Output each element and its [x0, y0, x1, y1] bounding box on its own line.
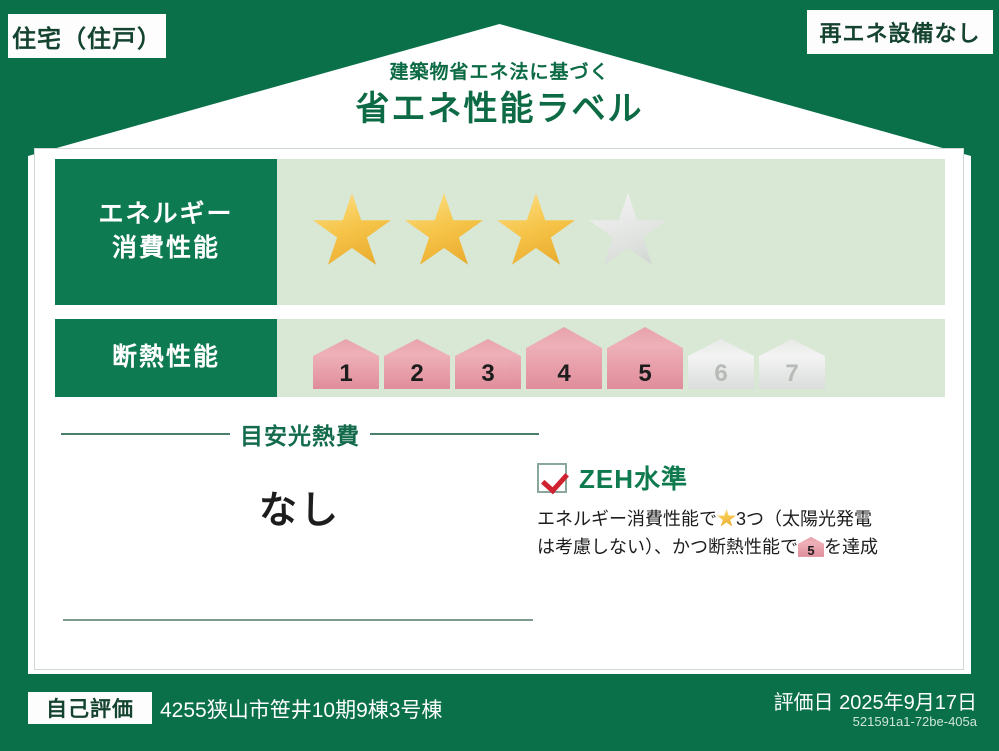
label-title-block: 建築物省エネ法に基づく 省エネ性能ラベル [0, 62, 999, 130]
grade-house-icon-4: 4 [526, 327, 602, 389]
grade-house-value-7: 7 [785, 362, 798, 389]
energy-label-line2: 消費性能 [112, 232, 220, 266]
property-address: 4255狭山市笹井10期9棟3号棟 [160, 694, 442, 724]
utility-cost-heading-text: 目安光熱費 [230, 417, 370, 451]
check-icon [537, 463, 567, 493]
grade-house-icon-5: 5 [607, 327, 683, 389]
grade-house-value-4: 4 [557, 362, 570, 389]
zeh-desc-star-count: 3つ（太陽光発電 [736, 509, 872, 529]
zeh-desc-part2: は考慮しない）、かつ断熱性能で [537, 537, 798, 557]
evaluation-date-label: 評価日 [774, 692, 834, 714]
title-subtitle: 建築物省エネ法に基づく [0, 62, 999, 85]
star-icon-3 [497, 193, 575, 271]
grade-house-icon-6: 6 [688, 339, 754, 389]
insulation-performance-label: 断熱性能 [55, 319, 277, 397]
title-main: 省エネ性能ラベル [0, 88, 999, 131]
evaluation-date: 評価日 2025年9月17日 [774, 686, 977, 715]
energy-performance-label: 住宅（住戸） 再エネ設備なし 建築物省エネ法に基づく 省エネ性能ラベル エネルギ… [0, 0, 999, 751]
zeh-desc-part3: を達成 [824, 537, 878, 557]
badge-building-type: 住宅（住戸） [6, 12, 168, 60]
energy-label-line1: エネルギー [98, 198, 233, 232]
star-icon-2 [405, 193, 483, 271]
grade-house-icon-7: 7 [759, 339, 825, 389]
grade-house-value-5: 5 [638, 362, 651, 389]
insulation-label-text: 断熱性能 [112, 341, 220, 375]
grade-house-icon-3: 3 [455, 339, 521, 389]
energy-performance-row: エネルギー 消費性能 [55, 159, 945, 305]
grade-house-value-6: 6 [714, 362, 727, 389]
grade-house-icon-1: 1 [313, 339, 379, 389]
utility-cost-heading: 目安光熱費 [61, 417, 539, 451]
mini-star-icon [717, 509, 736, 528]
badge-renewable-equipment: 再エネ設備なし [805, 8, 995, 56]
utility-cost-bottom-rule [63, 619, 533, 621]
star-icon-4 [589, 193, 667, 271]
label-card: エネルギー 消費性能 断熱性能 1 2 3 4 5 [34, 148, 964, 670]
insulation-performance-row: 断熱性能 1 2 3 4 5 6 7 [55, 319, 945, 397]
badge-self-evaluation: 自己評価 [26, 690, 154, 726]
zeh-block: ZEH水準 エネルギー消費性能で3つ（太陽光発電 は考慮しない）、かつ断熱性能で… [537, 459, 947, 562]
zeh-heading: ZEH水準 [537, 459, 947, 496]
label-id: 521591a1-72be-405a [853, 714, 977, 729]
grade-house-value-1: 1 [339, 362, 352, 389]
utility-cost-value: なし [61, 479, 539, 534]
zeh-desc-part1: エネルギー消費性能で [537, 509, 717, 529]
grade-house-value-3: 3 [481, 362, 494, 389]
star-icon-1 [313, 193, 391, 271]
label-footer: 自己評価 4255狭山市笹井10期9棟3号棟 評価日 2025年9月17日 52… [0, 674, 999, 751]
energy-performance-label: エネルギー 消費性能 [55, 159, 277, 305]
zeh-description: エネルギー消費性能で3つ（太陽光発電 は考慮しない）、かつ断熱性能で5を達成 [537, 506, 947, 562]
insulation-grade-scale: 1 2 3 4 5 6 7 [277, 319, 945, 397]
rule-left [61, 433, 230, 435]
grade-house-list: 1 2 3 4 5 6 7 [313, 327, 830, 389]
mini-grade-house-icon: 5 [798, 537, 824, 557]
energy-star-rating [277, 159, 945, 305]
grade-house-value-2: 2 [410, 362, 423, 389]
rule-right [370, 433, 539, 435]
mini-grade-house-value: 5 [798, 544, 824, 557]
zeh-title-text: ZEH水準 [579, 459, 688, 496]
grade-house-icon-2: 2 [384, 339, 450, 389]
evaluation-date-value: 2025年9月17日 [839, 692, 977, 714]
